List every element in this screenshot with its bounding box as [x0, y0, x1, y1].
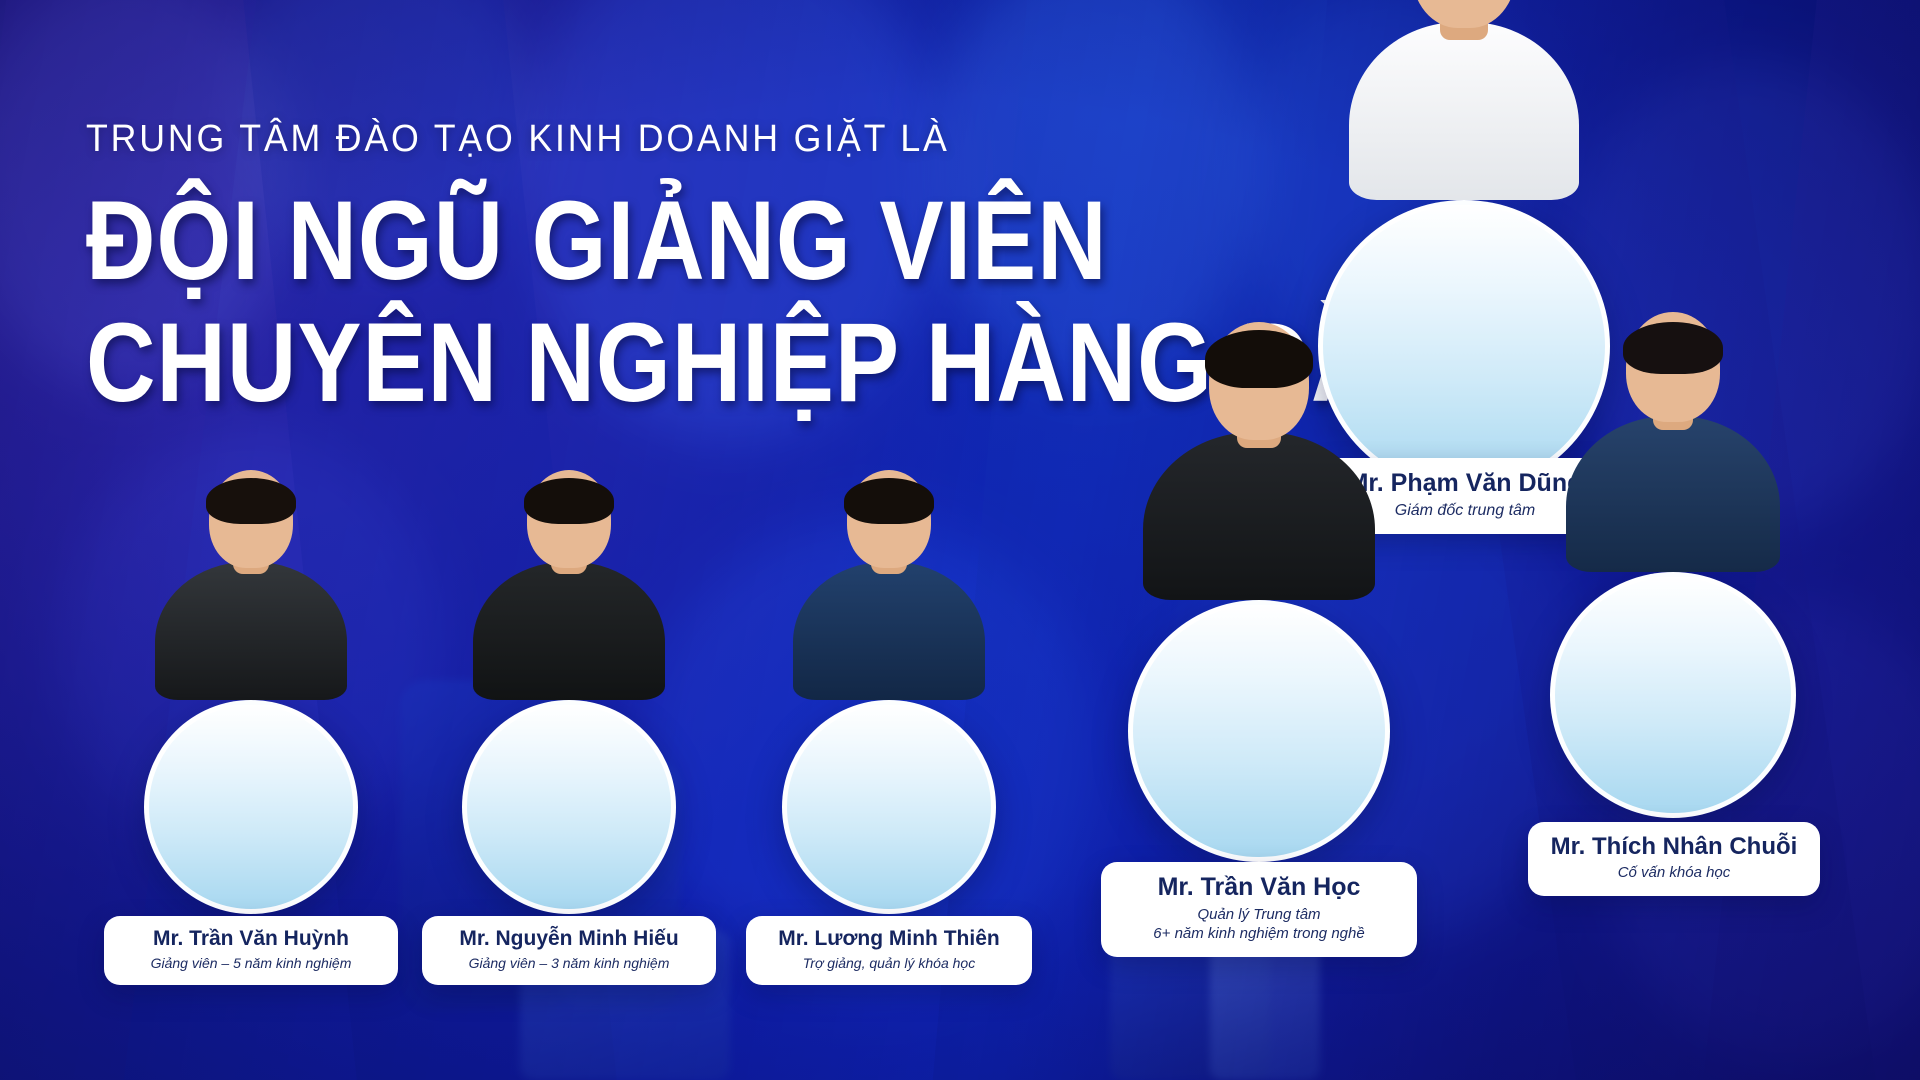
- headline-line-1: ĐỘI NGŨ GIẢNG VIÊN: [86, 187, 989, 295]
- person-role-line: Cố vấn khóa học: [1550, 863, 1798, 883]
- figure-head: [1412, 0, 1516, 28]
- headline-line-2: CHUYÊN NGHIỆP HÀNG ĐẦU: [86, 309, 989, 417]
- figure-body: [473, 562, 665, 700]
- person-role: Giảng viên – 5 năm kinh nghiệm: [126, 954, 376, 972]
- person-role-line: 6+ năm kinh nghiệm trong nghề: [1123, 924, 1395, 944]
- teacher-team-banner: TRUNG TÂM ĐÀO TẠO KINH DOANH GIẶT LÀ ĐỘI…: [0, 0, 1920, 1080]
- person-role: Quản lý Trung tâm 6+ năm kinh nghiệm tro…: [1123, 905, 1395, 944]
- eyebrow-text: TRUNG TÂM ĐÀO TẠO KINH DOANH GIẶT LÀ: [86, 118, 1073, 161]
- figure-hair: [1205, 330, 1313, 388]
- person-name: Mr. Trần Văn Huỳnh: [126, 927, 376, 952]
- person-role: Giảng viên – 3 năm kinh nghiệm: [444, 954, 694, 972]
- person-role-line: Giảng viên – 5 năm kinh nghiệm: [126, 954, 376, 972]
- person-role: Cố vấn khóa học: [1550, 863, 1798, 883]
- portrait-figure: [462, 486, 676, 700]
- portrait-figure: [1128, 338, 1390, 600]
- portrait-figure: [782, 486, 996, 700]
- portrait-figure: [1318, 0, 1610, 200]
- portrait-circle: [1128, 600, 1390, 862]
- figure-hair: [524, 478, 614, 524]
- person-name: Mr. Thích Nhân Chuỗi: [1550, 833, 1798, 861]
- figure-hair: [844, 478, 934, 524]
- portrait-figure: [1550, 326, 1796, 572]
- figure-body: [1566, 416, 1780, 572]
- person-role: Trợ giảng, quản lý khóa học: [768, 954, 1010, 972]
- name-card-luong-minh-thien[interactable]: Mr. Lương Minh Thiên Trợ giảng, quản lý …: [746, 916, 1032, 985]
- person-role-line: Giảng viên – 3 năm kinh nghiệm: [444, 954, 694, 972]
- portrait-figure: [144, 486, 358, 700]
- headline-block: TRUNG TÂM ĐÀO TẠO KINH DOANH GIẶT LÀ ĐỘI…: [86, 118, 1136, 416]
- figure-body: [155, 562, 347, 700]
- person-name: Mr. Nguyễn Minh Hiếu: [444, 927, 694, 952]
- figure-hair: [1623, 322, 1723, 374]
- figure-hair: [206, 478, 296, 524]
- name-card-tran-van-hoc[interactable]: Mr. Trần Văn Học Quản lý Trung tâm 6+ nă…: [1101, 862, 1417, 957]
- portrait-circle: [782, 700, 996, 914]
- figure-body: [793, 562, 985, 700]
- name-card-nguyen-minh-hieu[interactable]: Mr. Nguyễn Minh Hiếu Giảng viên – 3 năm …: [422, 916, 716, 985]
- person-name: Mr. Trần Văn Học: [1123, 873, 1395, 903]
- figure-body: [1143, 432, 1375, 600]
- name-card-tran-van-huynh[interactable]: Mr. Trần Văn Huỳnh Giảng viên – 5 năm ki…: [104, 916, 398, 985]
- portrait-circle: [144, 700, 358, 914]
- person-name: Mr. Lương Minh Thiên: [768, 927, 1010, 952]
- name-card-thich-nhan-chuoi[interactable]: Mr. Thích Nhân Chuỗi Cố vấn khóa học: [1528, 822, 1820, 896]
- portrait-circle: [462, 700, 676, 914]
- person-role-line: Quản lý Trung tâm: [1123, 905, 1395, 925]
- figure-body: [1349, 22, 1579, 200]
- person-role-line: Trợ giảng, quản lý khóa học: [768, 954, 1010, 972]
- portrait-circle: [1550, 572, 1796, 818]
